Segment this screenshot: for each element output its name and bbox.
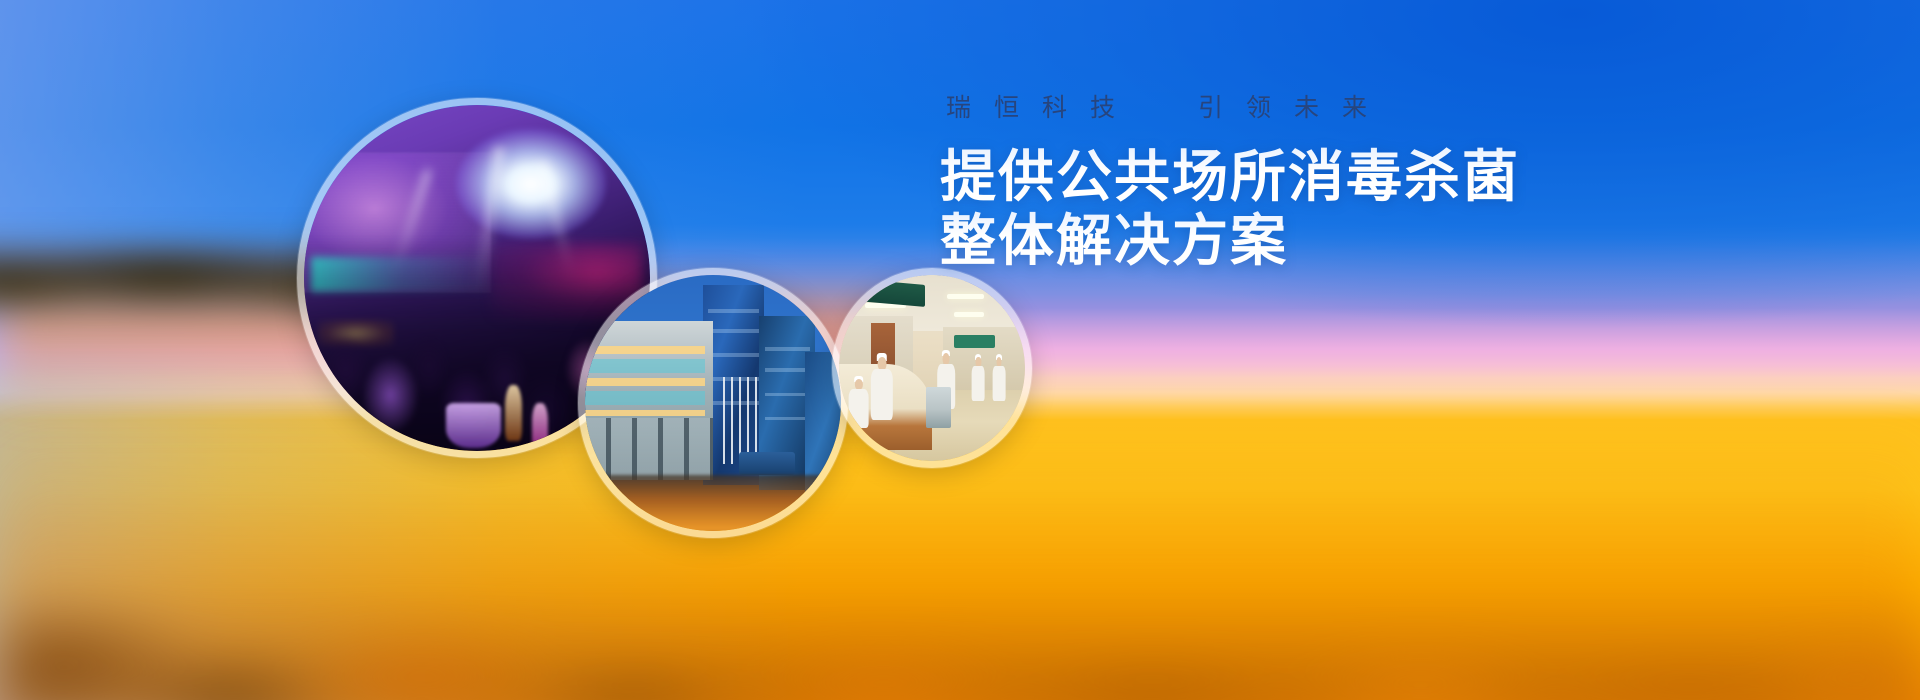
photo-circle-office-building[interactable] bbox=[578, 268, 848, 538]
brand-tagline: 瑞恒科技引领未来 bbox=[940, 96, 1640, 121]
hospital-staff bbox=[846, 379, 870, 427]
office-colonnade bbox=[585, 418, 713, 479]
hospital-nurse bbox=[971, 357, 986, 402]
photo-circle-hospital[interactable] bbox=[832, 268, 1032, 468]
office-street bbox=[585, 475, 841, 531]
hospital-trolley bbox=[926, 387, 950, 428]
hospital-photo bbox=[839, 275, 1025, 461]
nightclub-bottle bbox=[532, 403, 548, 448]
hospital-ceiling-light bbox=[947, 294, 984, 300]
hospital-direction-sign bbox=[954, 335, 995, 348]
office-building-photo bbox=[585, 275, 841, 531]
nightclub-spotlight-glow bbox=[456, 129, 606, 239]
hospital-ceiling-light bbox=[954, 312, 984, 317]
tagline-part-2: 引领未来 bbox=[1198, 94, 1390, 122]
headline-line-2: 整体解决方案 bbox=[940, 211, 1640, 271]
hospital-staff bbox=[869, 357, 895, 420]
banner-text-block: 瑞恒科技引领未来 提供公共场所消毒杀菌 整体解决方案 bbox=[940, 96, 1640, 272]
hospital-nurse bbox=[992, 357, 1007, 402]
nightclub-bottle bbox=[505, 385, 522, 440]
tagline-part-1: 瑞恒科技 bbox=[946, 94, 1138, 122]
banner-stage: 瑞恒科技引领未来 提供公共场所消毒杀菌 整体解决方案 bbox=[0, 0, 1920, 700]
headline-line-1: 提供公共场所消毒杀菌 bbox=[940, 147, 1640, 207]
office-entrance-sign bbox=[739, 452, 795, 475]
nightclub-ice-bucket bbox=[446, 403, 501, 448]
